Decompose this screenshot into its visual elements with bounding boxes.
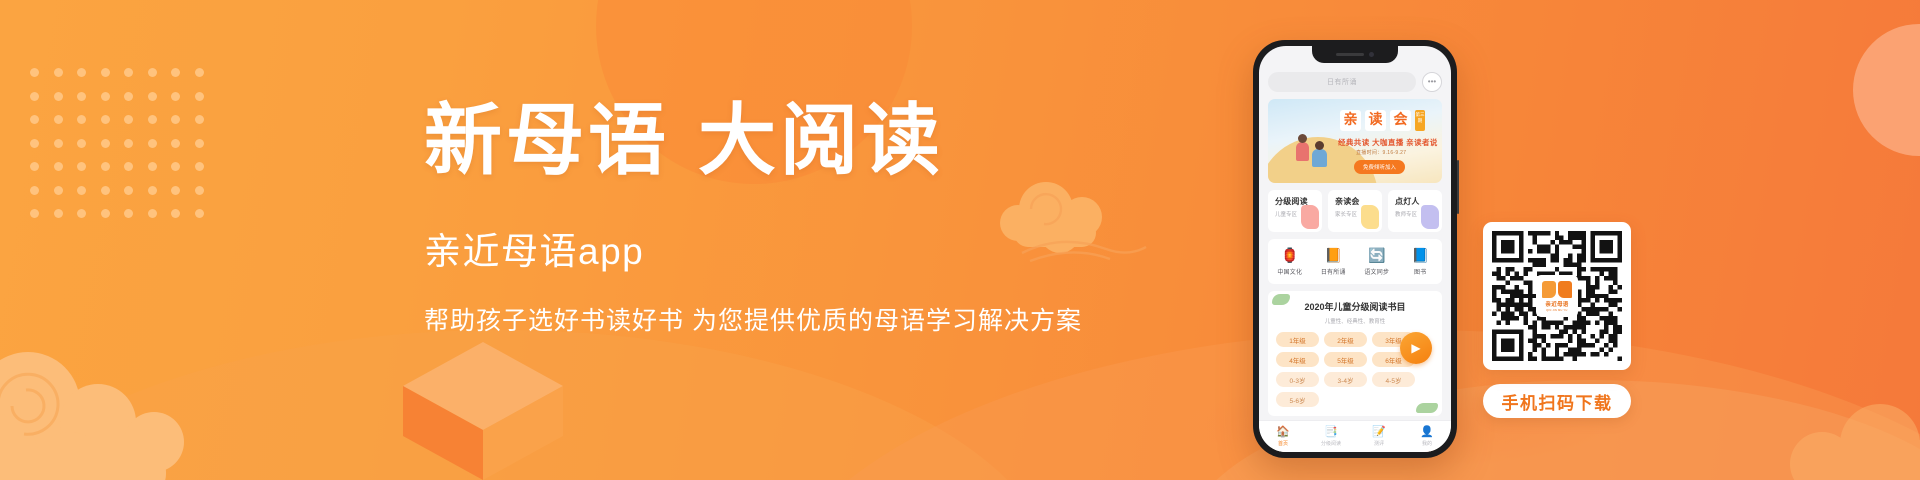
entry-card-list: 分级阅读儿童专区亲读会家长专区点灯人教师专区: [1268, 190, 1442, 232]
quick-nav-item[interactable]: 📘图书: [1399, 248, 1443, 276]
quick-nav-label: 日有所诵: [1312, 267, 1356, 276]
decor-dot: [171, 68, 180, 77]
decor-dot: [30, 92, 39, 101]
decor-dot: [30, 162, 39, 171]
app-promo-banner[interactable]: 亲读会第三期 经典共读 大咖直播 亲读者说 直播时间：9.16-9.27 免费倾…: [1268, 99, 1442, 183]
qr-center-logo: 亲近母语 QIN JIN MU YU: [1536, 275, 1578, 317]
tab-bar-item[interactable]: 📑分级阅读: [1307, 427, 1355, 447]
grade-chip[interactable]: 5年级: [1324, 352, 1367, 367]
banner-copy: 新母语大阅读 亲近母语app 帮助孩子选好书读好书 为您提供优质的母语学习解决方…: [424, 100, 1204, 337]
decor-dot: [30, 68, 39, 77]
decor-dot: [171, 209, 180, 218]
quick-nav-icon: 📙: [1312, 248, 1356, 262]
tab-bar-label: 首页: [1259, 440, 1307, 447]
decor-dot: [195, 68, 204, 77]
tab-bar-item[interactable]: 👤我的: [1403, 427, 1451, 447]
decor-dot: [77, 186, 86, 195]
promo-title-char: 亲: [1340, 110, 1361, 131]
decor-dot: [101, 139, 110, 148]
decor-dot: [195, 209, 204, 218]
promo-title-char: 读: [1365, 110, 1386, 131]
decor-dot: [171, 186, 180, 195]
decor-wave-left: [0, 330, 1060, 480]
app-content: 日有所诵 ••• 亲读会第三期 经典共读 大咖直播 亲读者说 直播时间：9.16…: [1259, 46, 1451, 452]
entry-card-shape: [1421, 205, 1439, 229]
decor-dot: [195, 139, 204, 148]
decor-dot: [124, 209, 133, 218]
quick-nav-label: 语文同步: [1355, 267, 1399, 276]
cloud-icon-bottom-right: [1730, 390, 1920, 480]
promo-cta-button[interactable]: 免费倾听加入: [1354, 160, 1405, 174]
decor-dot: [101, 92, 110, 101]
tab-bar-icon: 🏠: [1259, 427, 1307, 438]
search-placeholder: 日有所诵: [1327, 77, 1357, 87]
qr-download-block: 亲近母语 QIN JIN MU YU 手机扫码下载: [1483, 222, 1631, 418]
decor-dot: [77, 209, 86, 218]
decor-dot: [54, 209, 63, 218]
tab-bar-icon: 📝: [1355, 427, 1403, 438]
page-title: 新母语大阅读: [424, 100, 1204, 181]
search-input[interactable]: 日有所诵: [1268, 72, 1416, 92]
booklist-chip-list: 1年级2年级3年级4年级5年级6年级0-3岁3-4岁4-5岁5-6岁▶: [1276, 332, 1434, 407]
promo-child-2: [1312, 149, 1327, 167]
quick-nav-list: 🏮中国文化📙日有所诵🔄语文同步📘图书: [1268, 239, 1442, 284]
app-name-subtitle: 亲近母语app: [424, 221, 1204, 275]
cloud-icon-bottom-left: [0, 338, 266, 480]
quick-nav-icon: 📘: [1399, 248, 1443, 262]
tab-bar-item[interactable]: 🏠首页: [1259, 427, 1307, 447]
decor-dot: [124, 162, 133, 171]
decor-dot: [124, 115, 133, 124]
decor-dot: [77, 115, 86, 124]
decor-dot: [54, 186, 63, 195]
grade-chip[interactable]: 1年级: [1276, 332, 1319, 347]
quick-nav-label: 中国文化: [1268, 267, 1312, 276]
quick-nav-icon: 🏮: [1268, 248, 1312, 262]
decor-dot: [30, 186, 39, 195]
quick-nav-item[interactable]: 🏮中国文化: [1268, 248, 1312, 276]
entry-card[interactable]: 分级阅读儿童专区: [1268, 190, 1322, 232]
banner-tagline: 帮助孩子选好书读好书 为您提供优质的母语学习解决方案: [424, 301, 1204, 337]
decor-dot: [101, 162, 110, 171]
tab-bar-label: 分级阅读: [1307, 440, 1355, 447]
decor-dot: [77, 162, 86, 171]
quick-nav-label: 图书: [1399, 267, 1443, 276]
decor-dot: [124, 186, 133, 195]
decor-dot: [148, 139, 157, 148]
decor-dot: [30, 139, 39, 148]
age-chip[interactable]: 5-6岁: [1276, 392, 1319, 407]
entry-card[interactable]: 点灯人教师专区: [1388, 190, 1442, 232]
promo-banner: 新母语大阅读 亲近母语app 帮助孩子选好书读好书 为您提供优质的母语学习解决方…: [0, 0, 1920, 480]
decor-dot: [171, 162, 180, 171]
phone-screen: 日有所诵 ••• 亲读会第三期 经典共读 大咖直播 亲读者说 直播时间：9.16…: [1259, 46, 1451, 452]
tab-bar-label: 测评: [1355, 440, 1403, 447]
age-chip[interactable]: 4-5岁: [1372, 372, 1415, 387]
decor-dot: [101, 186, 110, 195]
tab-bar-icon: 👤: [1403, 427, 1451, 438]
booklist-subtitle: 儿童性、经典性、教育性: [1276, 317, 1434, 325]
decor-dot: [148, 186, 157, 195]
age-chip[interactable]: 3-4岁: [1324, 372, 1367, 387]
phone-notch: [1312, 46, 1398, 63]
promo-badge: 第三期: [1415, 110, 1425, 131]
decor-dot: [171, 92, 180, 101]
decor-dot: [77, 68, 86, 77]
decor-dot: [148, 162, 157, 171]
book-icon: [1542, 281, 1572, 298]
message-icon: •••: [1428, 78, 1436, 86]
qr-logo-name: 亲近母语: [1545, 300, 1568, 308]
decor-dot: [195, 186, 204, 195]
quick-nav-item[interactable]: 🔄语文同步: [1355, 248, 1399, 276]
decor-dot: [54, 162, 63, 171]
promo-date: 直播时间：9.16-9.27: [1356, 149, 1406, 156]
promo-subtitle: 经典共读 大咖直播 亲读者说: [1338, 137, 1438, 148]
decor-dot: [101, 115, 110, 124]
grade-chip[interactable]: 4年级: [1276, 352, 1319, 367]
decor-dot: [101, 68, 110, 77]
tab-bar-item[interactable]: 📝测评: [1355, 427, 1403, 447]
decor-dot: [30, 115, 39, 124]
headline-part-1: 新母语: [424, 97, 670, 184]
decor-dot: [124, 92, 133, 101]
age-chip[interactable]: 0-3岁: [1276, 372, 1319, 387]
decor-dot: [148, 92, 157, 101]
decor-dot: [148, 68, 157, 77]
decor-dot: [195, 162, 204, 171]
qr-logo-pinyin: QIN JIN MU YU: [1546, 308, 1567, 312]
decor-circle-top-right: [1853, 24, 1920, 156]
booklist-title: 2020年儿童分级阅读书目: [1276, 300, 1434, 313]
decor-dot: [54, 139, 63, 148]
entry-card-shape: [1361, 205, 1379, 229]
tab-bar-label: 我的: [1403, 440, 1451, 447]
decor-dot: [148, 209, 157, 218]
decor-dot: [77, 139, 86, 148]
decor-dot: [77, 92, 86, 101]
message-button[interactable]: •••: [1422, 72, 1442, 92]
speaker-icon: [1336, 53, 1364, 56]
decor-dot: [148, 115, 157, 124]
decor-dot: [195, 92, 204, 101]
decor-dot: [124, 139, 133, 148]
decor-dot: [54, 115, 63, 124]
decor-dot: [30, 209, 39, 218]
quick-nav-icon: 🔄: [1355, 248, 1399, 262]
decor-dot: [195, 115, 204, 124]
play-button[interactable]: ▶: [1400, 332, 1432, 364]
entry-card[interactable]: 亲读会家长专区: [1328, 190, 1382, 232]
app-tab-bar: 🏠首页📑分级阅读📝测评👤我的: [1259, 420, 1451, 452]
headline-part-2: 大阅读: [698, 97, 944, 184]
promo-child-1: [1296, 142, 1309, 161]
decor-cube: [388, 330, 578, 480]
grade-chip[interactable]: 2年级: [1324, 332, 1367, 347]
qr-card: 亲近母语 QIN JIN MU YU: [1483, 222, 1631, 370]
decor-dot: [171, 115, 180, 124]
decor-dot: [124, 68, 133, 77]
phone-mockup: 日有所诵 ••• 亲读会第三期 经典共读 大咖直播 亲读者说 直播时间：9.16…: [1253, 40, 1457, 458]
app-search-row: 日有所诵 •••: [1268, 72, 1442, 92]
download-button[interactable]: 手机扫码下载: [1483, 384, 1631, 418]
decor-dot-grid: [30, 68, 218, 233]
decor-dot: [54, 68, 63, 77]
quick-nav-item[interactable]: 📙日有所诵: [1312, 248, 1356, 276]
promo-title-char: 会: [1390, 110, 1411, 131]
decor-dot: [101, 209, 110, 218]
entry-card-shape: [1301, 205, 1319, 229]
tab-bar-icon: 📑: [1307, 427, 1355, 438]
decor-dot: [171, 139, 180, 148]
promo-title: 亲读会第三期: [1340, 110, 1425, 131]
decor-dot: [54, 92, 63, 101]
booklist-card[interactable]: 2020年儿童分级阅读书目 儿童性、经典性、教育性 1年级2年级3年级4年级5年…: [1268, 291, 1442, 416]
camera-icon: [1369, 52, 1374, 57]
